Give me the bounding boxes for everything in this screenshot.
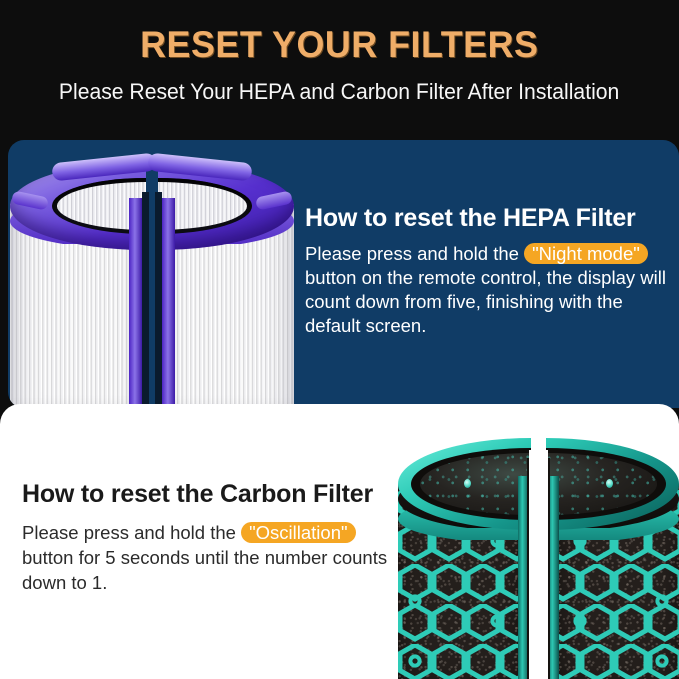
carbon-text-before-pill: Please press and hold the	[22, 522, 241, 543]
hepa-panel-body: How to reset the HEPA Filter Please pres…	[8, 140, 679, 408]
hepa-filter-half-right	[158, 158, 294, 408]
hepa-center-gap	[142, 192, 149, 408]
carbon-instruction-text: Please press and hold the "Oscillation" …	[22, 520, 394, 595]
carbon-text-block: How to reset the Carbon Filter Please pr…	[22, 480, 394, 595]
hepa-text-before-pill: Please press and hold the	[305, 243, 524, 264]
carbon-center-gap	[533, 450, 548, 679]
hepa-center-gap	[155, 192, 162, 408]
oscillation-pill[interactable]: "Oscillation"	[241, 522, 355, 543]
hepa-instruction-text: Please press and hold the "Night mode" b…	[305, 242, 677, 338]
carbon-heading: How to reset the Carbon Filter	[22, 480, 394, 509]
hepa-edge-spine	[129, 198, 142, 408]
carbon-filter-photo	[398, 432, 679, 679]
night-mode-pill[interactable]: "Night mode"	[524, 243, 648, 264]
hepa-text-after-pill: button on the remote control, the displa…	[305, 267, 666, 336]
hepa-filter-half-left	[10, 158, 146, 408]
carbon-instruction-panel: How to reset the Carbon Filter Please pr…	[0, 404, 679, 679]
hepa-heading: How to reset the HEPA Filter	[305, 204, 677, 233]
page-subtitle: Please Reset Your HEPA and Carbon Filter…	[59, 79, 619, 105]
carbon-filter-half-right	[546, 432, 679, 679]
carbon-text-after-pill: button for 5 seconds until the number co…	[22, 547, 387, 593]
hepa-instruction-panel: How to reset the HEPA Filter Please pres…	[8, 140, 679, 408]
header-banner: RESET YOUR FILTERS Please Reset Your HEP…	[0, 0, 679, 140]
carbon-filter-half-left	[398, 432, 531, 679]
carbon-rim-highlight-dot	[464, 479, 471, 488]
page-title: RESET YOUR FILTERS	[140, 24, 538, 66]
hepa-text-block: How to reset the HEPA Filter Please pres…	[305, 204, 677, 338]
carbon-rim-highlight-dot	[606, 479, 613, 488]
hepa-filter-photo	[10, 158, 295, 408]
poster-root: RESET YOUR FILTERS Please Reset Your HEP…	[0, 0, 679, 679]
hepa-edge-spine	[162, 198, 175, 408]
